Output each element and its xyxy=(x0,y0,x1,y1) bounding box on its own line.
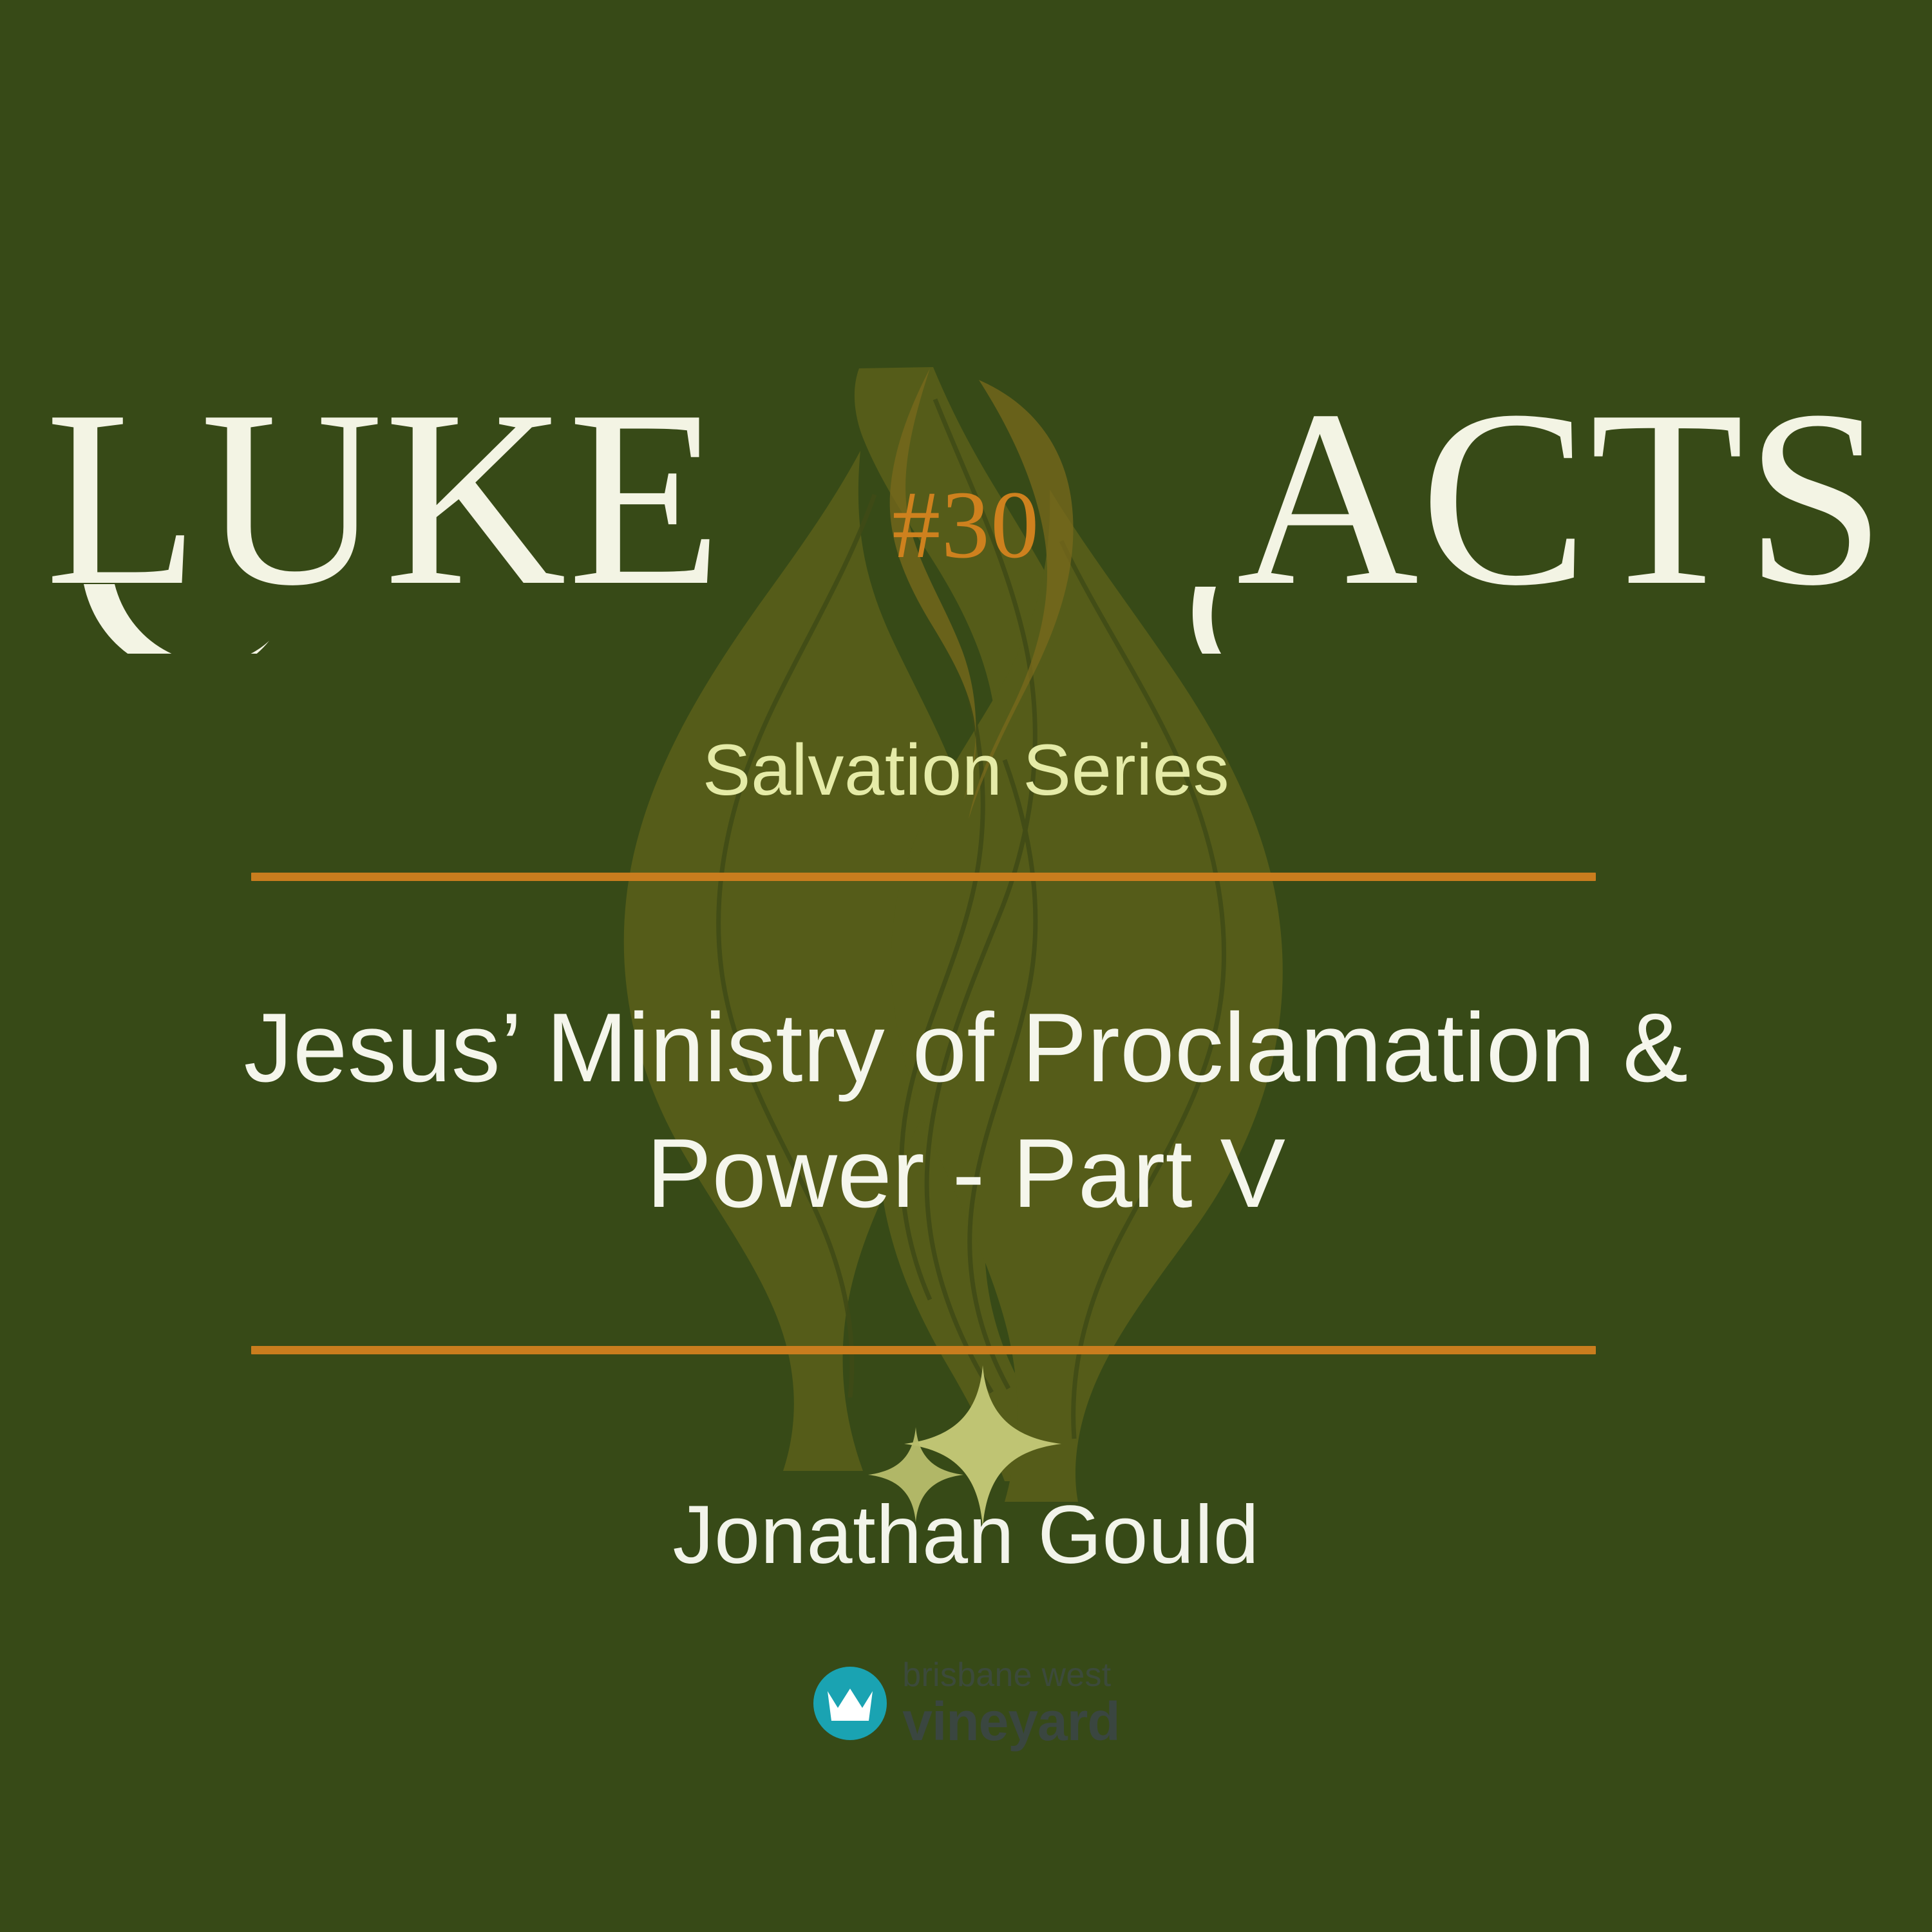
sermon-title: Jesus’ Ministry of Proclamation & Power … xyxy=(148,985,1784,1236)
series-subtitle: Salvation Series xyxy=(0,734,1932,806)
podcast-cover-artwork: LUKE ACTS #30 Salvation Series Jesus’ Mi… xyxy=(0,0,1932,1932)
divider-top xyxy=(251,873,1596,881)
wordmark-acts: ACTS xyxy=(1050,357,1887,654)
wordmark-luke: LUKE xyxy=(45,357,869,654)
logo-line-vineyard: vineyard xyxy=(902,1694,1119,1748)
logo-line-brisbane-west: brisbane west xyxy=(902,1658,1119,1692)
logo-wordmark: brisbane west vineyard xyxy=(902,1658,1119,1748)
church-logo: brisbane west vineyard xyxy=(0,1658,1932,1748)
wordmark-luke-text: LUKE xyxy=(45,358,723,638)
speaker-name: Jonathan Gould xyxy=(0,1494,1932,1577)
sermon-title-line-2: Power - Part V xyxy=(647,1119,1286,1228)
book-wordmark: LUKE ACTS #30 xyxy=(0,357,1932,660)
sermon-title-line-1: Jesus’ Ministry of Proclamation & xyxy=(244,993,1689,1103)
episode-number: #30 xyxy=(892,477,1040,573)
divider-bottom xyxy=(251,1346,1596,1354)
flame-background-illustration xyxy=(0,0,1932,1932)
wordmark-acts-text: ACTS xyxy=(1236,358,1887,638)
vineyard-crown-logo-icon xyxy=(812,1665,888,1741)
